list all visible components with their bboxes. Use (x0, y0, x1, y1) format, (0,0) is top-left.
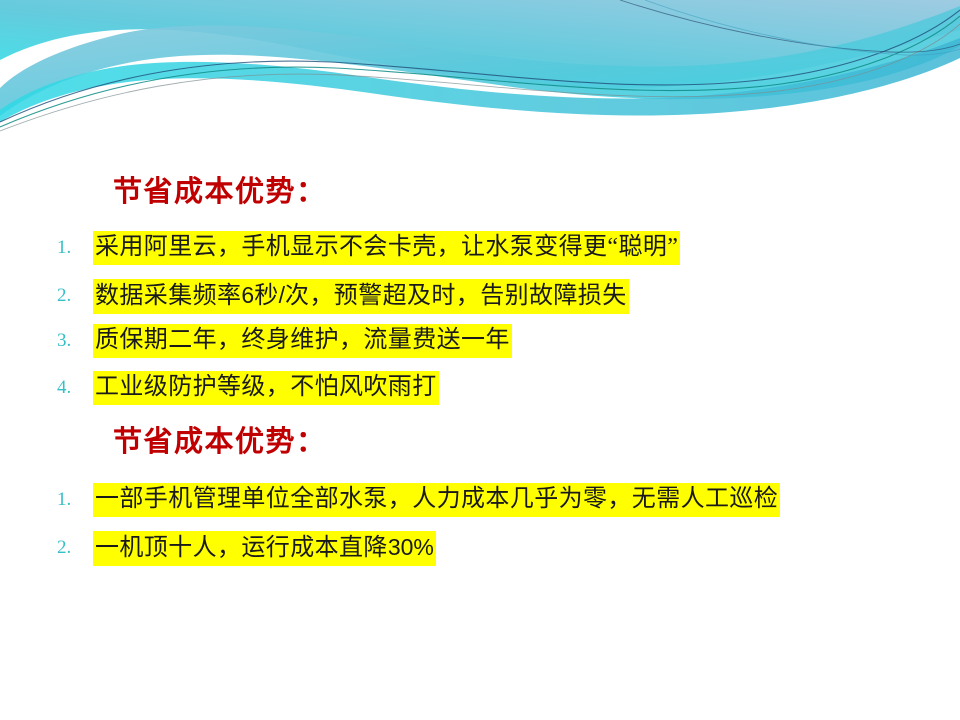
list-number: 1. (49, 489, 93, 511)
list-item: 3. 质保期二年，终身维护，流量费送一年 (49, 324, 512, 358)
list-text: 工业级防护等级，不怕风吹雨打 (93, 371, 439, 405)
list-item: 1. 采用阿里云，手机显示不会卡壳，让水泵变得更“聪明” (49, 231, 680, 265)
list-number: 3. (49, 330, 93, 352)
list-item: 2. 数据采集频率6秒/次，预警超及时，告别故障损失 (49, 279, 629, 313)
list-item: 4. 工业级防护等级，不怕风吹雨打 (49, 371, 439, 405)
section-heading-1: 节省成本优势： (113, 175, 327, 209)
list-number: 2. (49, 285, 93, 307)
list-text: 数据采集频率6秒/次，预警超及时，告别故障损失 (93, 279, 629, 314)
list-number: 4. (49, 377, 93, 399)
list-text: 质保期二年，终身维护，流量费送一年 (93, 324, 512, 358)
list-text: 一部手机管理单位全部水泵，人力成本几乎为零，无需人工巡检 (93, 483, 780, 517)
section-heading-2: 节省成本优势： (113, 425, 327, 459)
list-text: 一机顶十人，运行成本直降30% (93, 531, 436, 566)
list-item: 2. 一机顶十人，运行成本直降30% (49, 531, 436, 565)
list-number: 1. (49, 237, 93, 259)
slide-content: 节省成本优势： 1. 采用阿里云，手机显示不会卡壳，让水泵变得更“聪明” 2. … (0, 0, 960, 720)
slide-canvas: 节省成本优势： 1. 采用阿里云，手机显示不会卡壳，让水泵变得更“聪明” 2. … (0, 0, 960, 720)
list-item: 1. 一部手机管理单位全部水泵，人力成本几乎为零，无需人工巡检 (49, 483, 780, 517)
list-text: 采用阿里云，手机显示不会卡壳，让水泵变得更“聪明” (93, 231, 680, 265)
list-number: 2. (49, 537, 93, 559)
